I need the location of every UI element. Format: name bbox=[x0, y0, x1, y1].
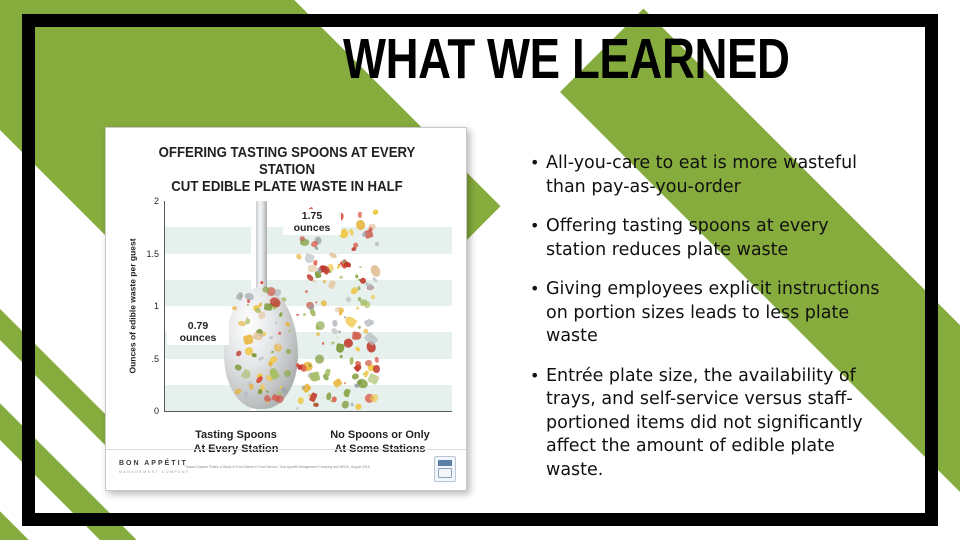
bullet-list: All-you-care to eat is more wasteful tha… bbox=[528, 152, 894, 498]
food-scrap-glyph bbox=[375, 375, 378, 379]
food-scrap-glyph bbox=[308, 371, 320, 382]
food-scrap-glyph bbox=[350, 358, 355, 366]
y-axis-title: Ounces of edible waste per guest bbox=[126, 201, 140, 411]
nrdc-logo-icon bbox=[434, 456, 456, 482]
food-scrap-glyph bbox=[364, 319, 373, 328]
food-scrap-glyph bbox=[341, 259, 346, 264]
food-scrap-glyph bbox=[369, 263, 381, 277]
food-scrap-glyph bbox=[303, 361, 314, 372]
food-scrap-glyph bbox=[321, 373, 329, 382]
food-scrap-glyph bbox=[343, 316, 346, 319]
food-scrap-glyph bbox=[328, 270, 332, 273]
food-scrap-glyph bbox=[335, 307, 340, 313]
food-scrap-glyph bbox=[344, 261, 352, 267]
food-scrap-glyph bbox=[315, 270, 322, 278]
value-label-no-spoons: 1.75 ounces bbox=[283, 209, 341, 235]
y-tick-label: .5 bbox=[151, 354, 159, 364]
food-scrap-glyph bbox=[338, 264, 340, 266]
y-axis-ticks: 0.511.52 bbox=[140, 201, 162, 411]
chart-title-line-1: OFFERING TASTING SPOONS AT EVERY STATION bbox=[144, 144, 431, 178]
food-scrap-glyph bbox=[302, 313, 306, 317]
y-tick-label: 0 bbox=[154, 406, 159, 416]
slide: WHAT WE LEARNED OFFERING TASTING SPOONS … bbox=[0, 0, 960, 540]
value-label-2-unit: ounces bbox=[286, 222, 338, 234]
plot-band bbox=[165, 280, 452, 306]
food-scrap-glyph bbox=[338, 306, 346, 314]
food-scrap-glyph bbox=[367, 373, 380, 385]
spoon-handle bbox=[256, 201, 267, 297]
food-scrap-glyph bbox=[339, 311, 342, 316]
y-axis-title-text: Ounces of edible waste per guest bbox=[128, 238, 138, 373]
food-scrap-glyph bbox=[342, 260, 346, 263]
chart-card: OFFERING TASTING SPOONS AT EVERY STATION… bbox=[105, 127, 467, 491]
y-tick-label: 1.5 bbox=[146, 249, 159, 259]
food-scrap-glyph bbox=[318, 268, 322, 273]
value-label-1-number: 0.79 bbox=[170, 320, 226, 332]
food-scrap-glyph bbox=[343, 381, 346, 384]
food-scrap-glyph bbox=[363, 371, 367, 375]
page-title: WHAT WE LEARNED bbox=[343, 28, 687, 90]
food-scrap-glyph bbox=[306, 371, 313, 378]
value-label-1-unit: ounces bbox=[170, 332, 226, 344]
food-scrap-glyph bbox=[337, 265, 342, 270]
food-scrap-glyph bbox=[316, 321, 326, 330]
chart-title-line-2: CUT EDIBLE PLATE WASTE IN HALF bbox=[144, 178, 431, 195]
food-scrap-glyph bbox=[351, 372, 360, 380]
food-scrap-glyph bbox=[357, 325, 361, 329]
y-tick-label: 1 bbox=[154, 301, 159, 311]
plot-canvas: 0.79 ounces 1.75 ounces bbox=[164, 201, 452, 412]
bullet-item: Offering tasting spoons at every station… bbox=[528, 215, 894, 262]
food-scrap-glyph bbox=[307, 264, 317, 272]
food-scrap-glyph bbox=[358, 212, 362, 218]
food-scrap-glyph bbox=[327, 263, 333, 271]
y-tick-label: 2 bbox=[154, 196, 159, 206]
bon-appetit-logo-subtitle: MANAGEMENT COMPANY bbox=[119, 470, 190, 474]
value-label-2-number: 1.75 bbox=[286, 210, 338, 222]
x-label-1-line-1: Tasting Spoons bbox=[164, 428, 308, 442]
food-scrap-glyph bbox=[356, 275, 359, 279]
food-scrap-glyph bbox=[320, 264, 331, 275]
food-scrap-glyph bbox=[354, 363, 363, 372]
bullet-item: Giving employees explicit instructions o… bbox=[528, 278, 894, 349]
chart-card-footer: BON APPÉTIT MANAGEMENT COMPANY "Toward C… bbox=[106, 449, 466, 490]
food-scrap-glyph bbox=[317, 264, 326, 274]
chart-title: OFFERING TASTING SPOONS AT EVERY STATION… bbox=[144, 144, 431, 195]
value-label-tasting-spoons: 0.79 ounces bbox=[167, 319, 229, 345]
bullet-item: All-you-care to eat is more wasteful tha… bbox=[528, 152, 894, 199]
food-scrap-glyph bbox=[304, 253, 315, 264]
bullet-item: Entrée plate size, the availability of t… bbox=[528, 365, 894, 483]
food-scrap-glyph bbox=[363, 370, 370, 378]
food-scrap-glyph bbox=[365, 359, 373, 367]
food-scrap-glyph bbox=[373, 365, 380, 373]
food-scrap-glyph bbox=[369, 320, 373, 325]
bon-appetit-logo: BON APPÉTIT bbox=[119, 460, 188, 467]
food-scrap-glyph bbox=[309, 372, 320, 383]
food-scrap-glyph bbox=[323, 269, 327, 274]
x-label-2-line-1: No Spoons or Only bbox=[308, 428, 452, 442]
food-scrap-glyph bbox=[340, 259, 351, 270]
plot-band bbox=[165, 385, 452, 411]
food-scrap-glyph bbox=[354, 360, 361, 367]
spoon-bowl bbox=[224, 287, 298, 409]
chart-source-citation: "Toward Cleaner Plates: A Study of Food … bbox=[184, 465, 400, 470]
food-scrap-glyph bbox=[315, 325, 319, 330]
food-scrap-glyph bbox=[309, 308, 317, 317]
food-scrap-glyph bbox=[356, 307, 359, 310]
food-scrap-glyph bbox=[332, 319, 338, 327]
food-scrap-glyph bbox=[367, 364, 376, 372]
food-scrap-glyph bbox=[359, 266, 362, 269]
chart-plot-area: Ounces of edible waste per guest 0.511.5… bbox=[126, 201, 452, 423]
food-scrap-glyph bbox=[324, 369, 330, 377]
food-scrap-glyph bbox=[309, 364, 312, 368]
food-scrap-glyph bbox=[313, 261, 317, 266]
food-scrap-glyph bbox=[343, 314, 357, 328]
food-scrap-glyph bbox=[371, 209, 379, 217]
